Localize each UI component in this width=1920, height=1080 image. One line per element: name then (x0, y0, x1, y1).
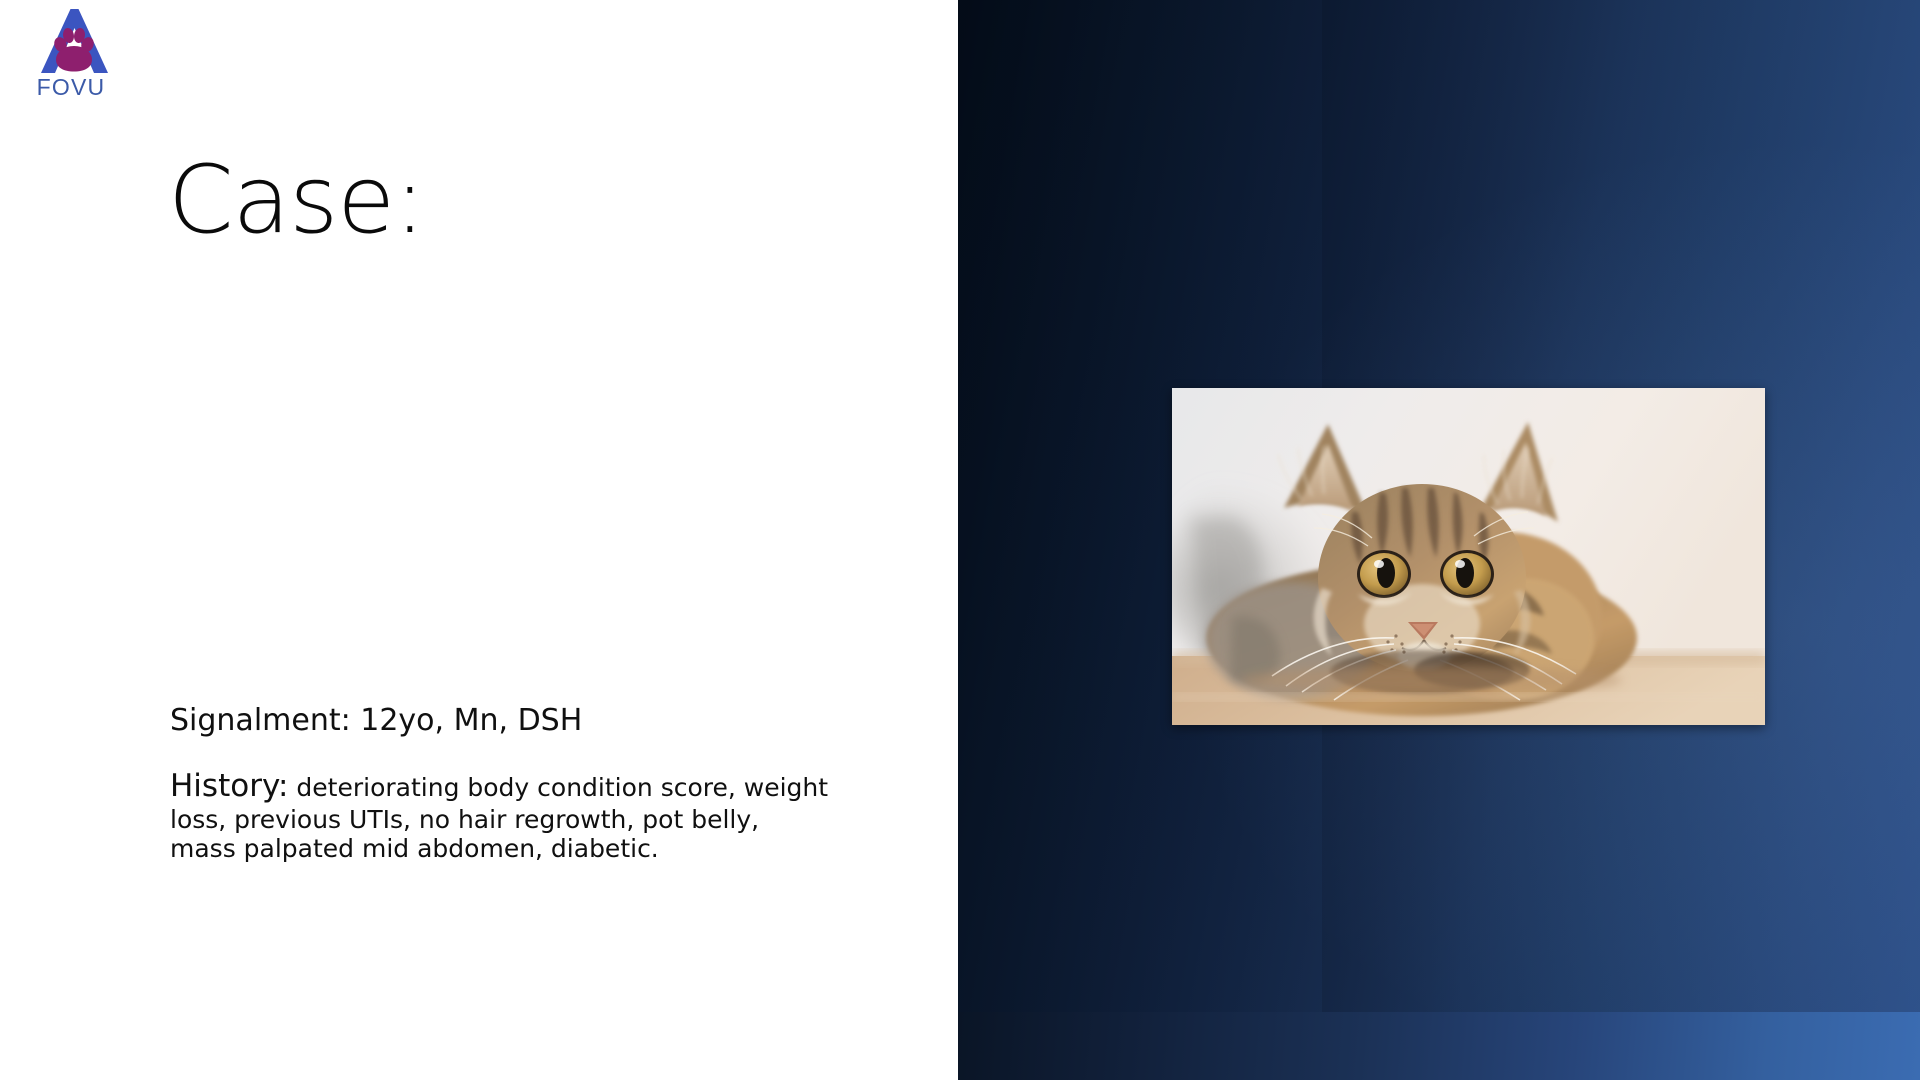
history-block: History: deteriorating body condition sc… (170, 768, 830, 864)
cat-photo-image (1172, 388, 1765, 725)
fovu-logo: FOVU (26, 6, 116, 106)
history-label: History: (170, 768, 288, 804)
cat-photo (1172, 388, 1765, 725)
page-title: Case: (168, 152, 425, 251)
panel-bottom-band (958, 1012, 1920, 1080)
decorative-panel (958, 0, 1920, 1080)
logo-wordmark: FOVU (26, 74, 116, 101)
slide-canvas: FOVU Case: Signalment: 12yo, Mn, DSH His… (0, 0, 1920, 1080)
logo-a-paw-icon (26, 6, 116, 76)
signalment-line: Signalment: 12yo, Mn, DSH (170, 702, 582, 740)
